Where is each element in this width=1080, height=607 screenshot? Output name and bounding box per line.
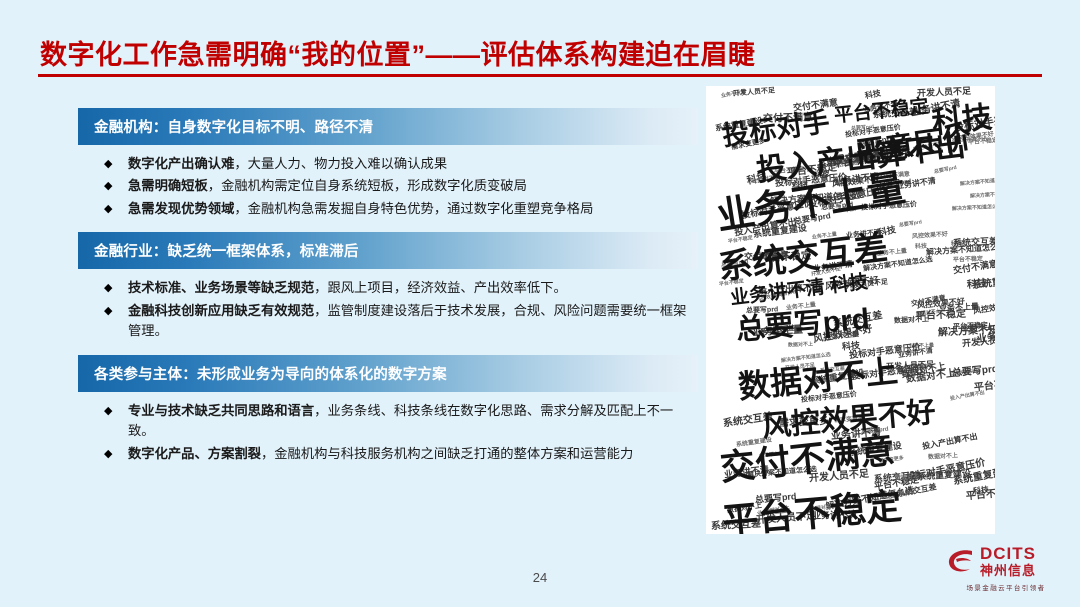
word-cloud-term: 总要写prd xyxy=(952,365,995,380)
word-cloud-term: 投入产出算不出 xyxy=(950,391,985,402)
diamond-bullet-icon: ◆ xyxy=(104,199,128,219)
list-item: ◆ 技术标准、业务场景等缺乏规范，跟风上项目，经济效益、产出效率低下。 xyxy=(104,278,698,298)
word-cloud-term: 科技 xyxy=(915,244,927,251)
word-cloud-term: 平台不稳定 xyxy=(728,236,753,245)
word-cloud-term: 平台不稳定 xyxy=(966,488,995,503)
list-item-emphasis: 数字化产品、方案割裂 xyxy=(128,446,261,461)
dcits-swoosh-icon xyxy=(946,547,976,575)
list-item-emphasis: 急需明确短板 xyxy=(128,178,208,193)
bullet-list: ◆ 数字化产出确认难，大量人力、物力投入难以确认成果 ◆ 急需明确短板，金融机构… xyxy=(78,145,698,219)
word-cloud-term: 总要写prd xyxy=(899,220,923,228)
word-cloud-layer: 解决方案不知道怎么选风控效果不好系统重复建设总要写prd平台不稳定交付不满意总要… xyxy=(706,86,995,534)
list-item-emphasis: 急需发现优势领域 xyxy=(128,201,234,216)
word-cloud-term: 平台不稳定 xyxy=(721,488,903,534)
section-header: 各类参与主体： 未形成业务为导向的体系化的数字方案 xyxy=(78,355,698,392)
bullet-list: ◆ 专业与技术缺乏共同思路和语言，业务条线、科技条线在数字化思路、需求分解及匹配… xyxy=(78,392,698,464)
word-cloud-term: 解决方案不知道怎么选 xyxy=(952,205,995,212)
word-cloud-term: 投标对手 xyxy=(721,109,832,151)
content-column: 金融机构： 自身数字化目标不明、路径不清 ◆ 数字化产出确认难，大量人力、物力投… xyxy=(78,108,698,477)
section-participants: 各类参与主体： 未形成业务为导向的体系化的数字方案 ◆ 专业与技术缺乏共同思路和… xyxy=(78,355,698,464)
section-header-sub: 缺乏统一框架体系，标准滞后 xyxy=(168,240,359,261)
list-item-text: 金融科技创新应用缺乏有效规范，监管制度建设落后于技术发展，合规、风险问题需要统一… xyxy=(128,301,698,342)
logo-tagline: 场景金融云平台引领者 xyxy=(946,582,1066,592)
logo-wordmark: DCITS 神州信息 xyxy=(980,545,1036,577)
diamond-bullet-icon: ◆ xyxy=(104,301,128,321)
word-cloud-term: 平台不稳定 xyxy=(833,97,929,126)
word-cloud-term: 数据对不上 xyxy=(737,355,899,404)
list-item-text: 技术标准、业务场景等缺乏规范，跟风上项目，经济效益、产出效率低下。 xyxy=(128,278,698,298)
list-item-text: 专业与技术缺乏共同思路和语言，业务条线、科技条线在数字化思路、需求分解及匹配上不… xyxy=(128,401,698,442)
section-financial-institutions: 金融机构： 自身数字化目标不明、路径不清 ◆ 数字化产出确认难，大量人力、物力投… xyxy=(78,108,698,219)
list-item: ◆ 专业与技术缺乏共同思路和语言，业务条线、科技条线在数字化思路、需求分解及匹配… xyxy=(104,401,698,442)
word-cloud-term: 数据对不上 xyxy=(894,316,929,325)
list-item-text: 急需发现优势领域，金融机构急需发掘自身特色优势，通过数字化重塑竞争格局 xyxy=(128,199,698,219)
section-header-lead: 金融行业： xyxy=(94,240,168,261)
logo-en-text: DCITS xyxy=(980,545,1036,562)
list-item: ◆ 数字化产出确认难，大量人力、物力投入难以确认成果 xyxy=(104,154,698,174)
page-number: 24 xyxy=(0,570,1080,585)
list-item-emphasis: 专业与技术缺乏共同思路和语言 xyxy=(128,403,314,418)
list-item-rest: ，大量人力、物力投入难以确认成果 xyxy=(234,156,447,171)
section-header: 金融机构： 自身数字化目标不明、路径不清 xyxy=(78,108,698,145)
list-item: ◆ 金融科技创新应用缺乏有效规范，监管制度建设落后于技术发展，合规、风险问题需要… xyxy=(104,301,698,342)
list-item: ◆ 急需明确短板，金融机构需定位自身系统短板，形成数字化质变破局 xyxy=(104,176,698,196)
bullet-list: ◆ 技术标准、业务场景等缺乏规范，跟风上项目，经济效益、产出效率低下。 ◆ 金融… xyxy=(78,269,698,341)
word-cloud-term: 解决方案不知道怎么选 xyxy=(970,191,995,199)
word-cloud-term: 科技 xyxy=(967,279,988,291)
page-title: 数字化工作急需明确“我的位置”——评估体系构建迫在眉睫 xyxy=(40,33,756,72)
list-item-emphasis: 技术标准、业务场景等缺乏规范 xyxy=(128,280,314,295)
list-item-rest: ，跟风上项目，经济效益、产出效率低下。 xyxy=(314,280,567,295)
slide-canvas: 数字化工作急需明确“我的位置”——评估体系构建迫在眉睫 金融机构： 自身数字化目… xyxy=(0,0,1080,607)
logo-row: DCITS 神州信息 xyxy=(946,545,1066,577)
word-cloud-term: 数据对不上 xyxy=(788,343,813,349)
list-item-rest: ，金融机构需定位自身系统短板，形成数字化质变破局 xyxy=(208,178,527,193)
section-header-sub: 自身数字化目标不明、路径不清 xyxy=(168,116,374,137)
list-item-rest: ，金融机构与科技服务机构之间缺乏打通的整体方案和运营能力 xyxy=(261,446,633,461)
title-underline xyxy=(38,74,1042,77)
word-cloud-term: 解决方案不知道怎么选 xyxy=(960,178,995,188)
section-header: 金融行业： 缺乏统一框架体系，标准滞后 xyxy=(78,232,698,269)
list-item-rest: ，金融机构急需发掘自身特色优势，通过数字化重塑竞争格局 xyxy=(234,201,593,216)
dcits-logo: DCITS 神州信息 场景金融云平台引领者 xyxy=(946,545,1066,597)
list-item: ◆ 急需发现优势领域，金融机构急需发掘自身特色优势，通过数字化重塑竞争格局 xyxy=(104,199,698,219)
word-cloud-term: 解决方案不知道怎么选 xyxy=(926,243,995,257)
word-cloud-term: 科技 xyxy=(864,90,881,101)
diamond-bullet-icon: ◆ xyxy=(104,401,128,421)
diamond-bullet-icon: ◆ xyxy=(104,444,128,464)
word-cloud-term: 数据对不上 xyxy=(928,453,958,461)
word-cloud-term: 风控效果不好 xyxy=(912,232,948,241)
list-item-text: 急需明确短板，金融机构需定位自身系统短板，形成数字化质变破局 xyxy=(128,176,698,196)
diamond-bullet-icon: ◆ xyxy=(104,278,128,298)
list-item-emphasis: 金融科技创新应用缺乏有效规范 xyxy=(128,303,314,318)
word-cloud-term: 总要写prd xyxy=(934,166,958,175)
list-item: ◆ 数字化产品、方案割裂，金融机构与科技服务机构之间缺乏打通的整体方案和运营能力 xyxy=(104,444,698,464)
pain-point-word-cloud: 解决方案不知道怎么选风控效果不好系统重复建设总要写prd平台不稳定交付不满意总要… xyxy=(706,86,995,534)
section-header-lead: 各类参与主体： xyxy=(94,363,197,384)
list-item-text: 数字化产品、方案割裂，金融机构与科技服务机构之间缺乏打通的整体方案和运营能力 xyxy=(128,444,698,464)
word-cloud-term: 科技 xyxy=(842,341,861,352)
diamond-bullet-icon: ◆ xyxy=(104,154,128,174)
section-header-lead: 金融机构： xyxy=(94,116,168,137)
list-item-text: 数字化产出确认难，大量人力、物力投入难以确认成果 xyxy=(128,154,698,174)
diamond-bullet-icon: ◆ xyxy=(104,176,128,196)
section-header-sub: 未形成业务为导向的体系化的数字方案 xyxy=(197,363,447,384)
logo-cn-text: 神州信息 xyxy=(980,564,1036,577)
list-item-emphasis: 数字化产出确认难 xyxy=(128,156,234,171)
word-cloud-term: 投入产出算不出 xyxy=(922,433,979,451)
section-financial-industry: 金融行业： 缺乏统一框架体系，标准滞后 ◆ 技术标准、业务场景等缺乏规范，跟风上… xyxy=(78,232,698,341)
